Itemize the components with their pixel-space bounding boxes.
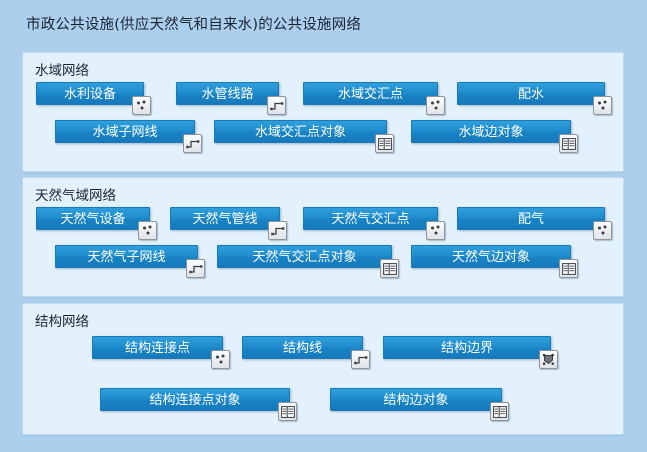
network-node[interactable]: 结构边界 xyxy=(383,336,551,359)
network-node[interactable]: 天然气子网线 xyxy=(55,245,198,268)
point-feature-icon xyxy=(426,221,445,240)
line-feature-icon xyxy=(267,96,286,115)
point-feature-icon xyxy=(211,350,230,369)
network-node[interactable]: 水利设备 xyxy=(36,82,144,105)
section-panel-gas-network: 天然气域网络 xyxy=(22,177,624,297)
section-title: 水域网络 xyxy=(35,59,89,79)
network-node[interactable]: 水域交汇点 xyxy=(303,82,438,105)
table-icon xyxy=(380,259,399,278)
network-node[interactable]: 结构线 xyxy=(242,336,363,359)
network-node[interactable]: 天然气交汇点对象 xyxy=(217,245,392,268)
polygon-feature-icon xyxy=(539,350,558,369)
line-feature-icon xyxy=(351,350,370,369)
line-feature-icon xyxy=(183,134,202,153)
section-panel-water-network: 水域网络 xyxy=(22,52,624,172)
network-node[interactable]: 天然气交汇点 xyxy=(303,207,438,230)
line-feature-icon xyxy=(186,259,205,278)
table-icon xyxy=(559,259,578,278)
line-feature-icon xyxy=(268,221,287,240)
network-node[interactable]: 水域子网线 xyxy=(55,120,195,143)
section-panel-structure-network: 结构网络 xyxy=(22,303,624,435)
network-node[interactable]: 水域边对象 xyxy=(411,120,571,143)
table-icon xyxy=(375,134,394,153)
network-node[interactable]: 天然气边对象 xyxy=(411,245,571,268)
section-title: 结构网络 xyxy=(35,310,89,330)
point-feature-icon xyxy=(138,221,157,240)
point-feature-icon xyxy=(593,96,612,115)
point-feature-icon xyxy=(132,96,151,115)
network-node[interactable]: 天然气设备 xyxy=(36,207,150,230)
page-title: 市政公共设施(供应天然气和自来水)的公共设施网络 xyxy=(26,13,361,34)
network-node[interactable]: 水管线路 xyxy=(176,82,279,105)
network-node[interactable]: 结构边对象 xyxy=(330,388,502,411)
network-node[interactable]: 结构连接点对象 xyxy=(100,388,290,411)
network-node[interactable]: 配气 xyxy=(457,207,605,230)
table-icon xyxy=(490,402,509,421)
network-node[interactable]: 配水 xyxy=(457,82,605,105)
table-icon xyxy=(278,402,297,421)
network-node[interactable]: 天然气管线 xyxy=(170,207,280,230)
network-node[interactable]: 结构连接点 xyxy=(92,336,223,359)
point-feature-icon xyxy=(593,221,612,240)
table-icon xyxy=(559,134,578,153)
network-node[interactable]: 水域交汇点对象 xyxy=(214,120,387,143)
section-title: 天然气域网络 xyxy=(35,184,116,204)
point-feature-icon xyxy=(426,96,445,115)
